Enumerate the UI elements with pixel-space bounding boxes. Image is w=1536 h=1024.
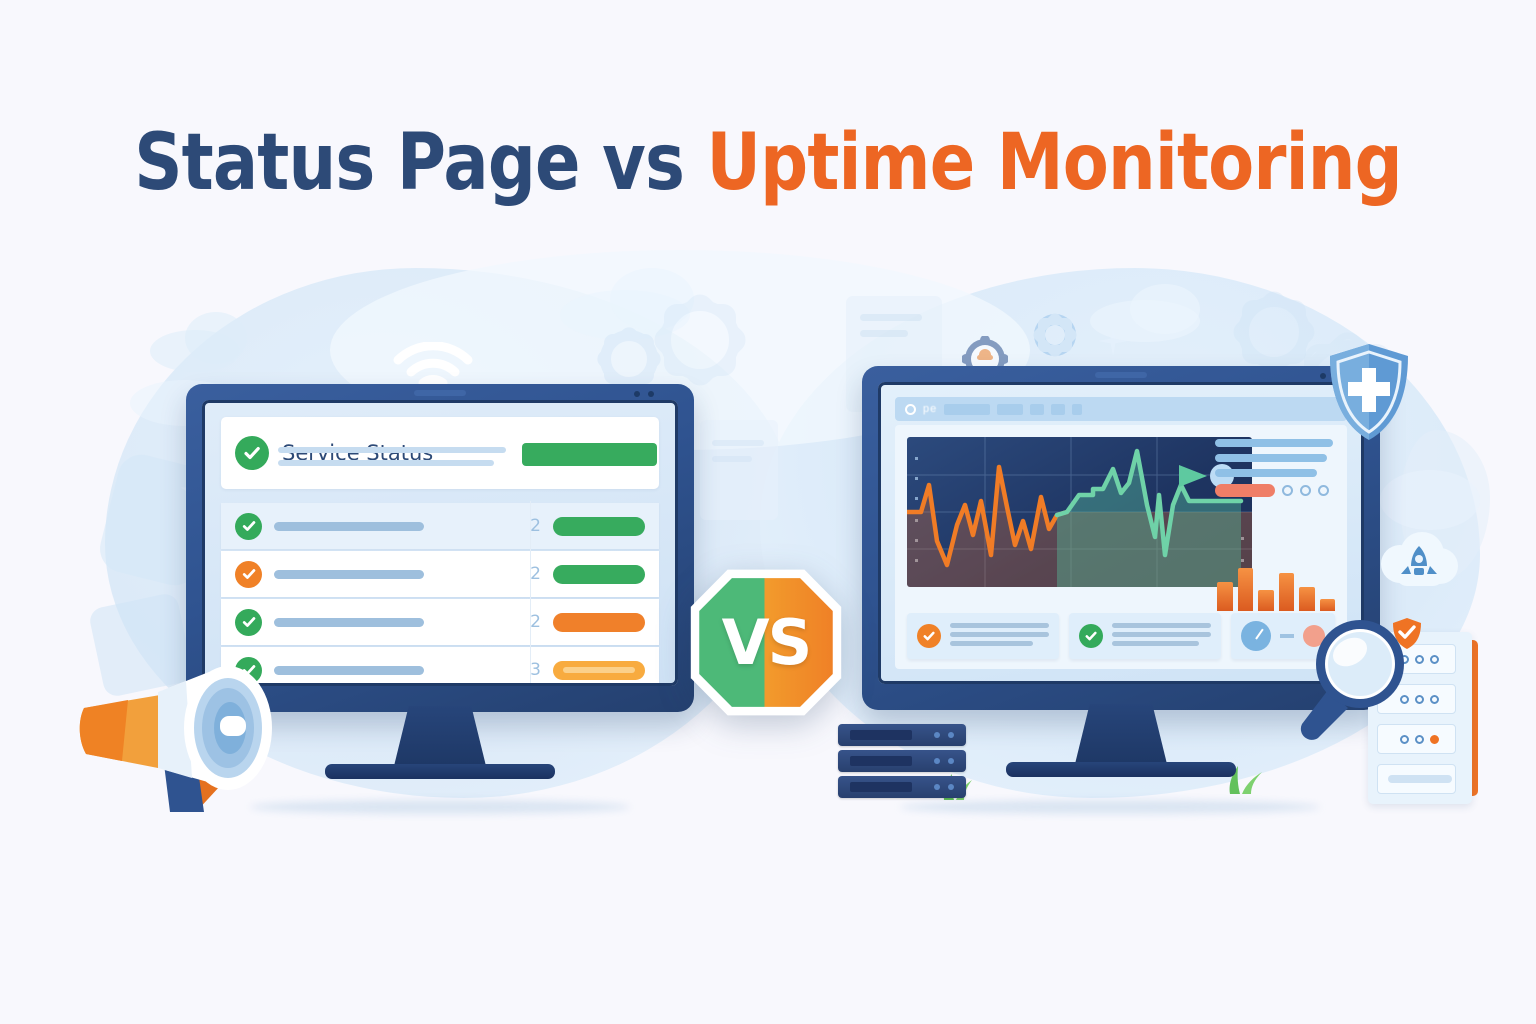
page-title-part-orange: Uptime Monitoring <box>707 118 1402 208</box>
decorative-cloud <box>1130 284 1200 334</box>
check-circle-icon <box>235 609 262 636</box>
server-unit <box>838 776 966 798</box>
row-value: 2 <box>530 516 541 536</box>
server-unit <box>838 750 966 772</box>
dashboard-status-cards <box>907 613 1335 659</box>
monitor-stand-base <box>1006 762 1236 777</box>
gear-icon <box>1034 314 1076 356</box>
page-title-part-navy: Status Page vs <box>134 118 706 208</box>
toolbar-label: pe <box>923 403 937 415</box>
uptime-chart <box>907 437 1252 587</box>
monitor-camera-icon <box>1095 372 1147 378</box>
server-stack-icon <box>838 724 966 804</box>
status-badge <box>1215 484 1275 497</box>
check-circle-icon <box>917 624 941 648</box>
dashboard-side-lines <box>1215 439 1335 497</box>
gauge-icon <box>1241 621 1271 651</box>
gear-icon <box>1238 296 1310 368</box>
monitor-stand-base <box>325 764 555 779</box>
check-circle-icon <box>1079 624 1103 648</box>
gear-icon <box>600 330 658 388</box>
circle-icon <box>905 404 916 415</box>
monitor-camera-icon <box>414 390 466 396</box>
vs-badge: VS <box>686 565 846 720</box>
column-divider <box>530 501 531 683</box>
decorative-document-line <box>860 314 922 321</box>
status-card[interactable] <box>1069 613 1221 659</box>
bar <box>1320 599 1336 611</box>
toolbar-segment <box>1072 404 1082 415</box>
dashboard-body <box>895 425 1347 669</box>
row-label-placeholder <box>274 666 424 675</box>
rack-slot <box>1377 764 1456 794</box>
play-triangle-icon <box>1179 465 1207 487</box>
check-circle-icon <box>235 513 262 540</box>
circle-icon <box>1282 485 1293 496</box>
bar <box>1258 590 1274 611</box>
gear-icon <box>660 300 740 380</box>
toolbar-segment <box>1030 404 1044 415</box>
circle-icon <box>1318 485 1329 496</box>
megaphone-icon <box>62 636 294 812</box>
row-value: 2 <box>530 612 541 632</box>
bar <box>1217 582 1233 611</box>
toolbar-segment <box>1051 404 1065 415</box>
row-label-placeholder <box>274 522 424 531</box>
shield-cross-icon <box>1326 342 1412 442</box>
status-badge <box>553 661 645 680</box>
rocket-cloud-icon <box>1378 530 1460 596</box>
bar <box>1238 568 1254 611</box>
toolbar-segment <box>944 404 990 415</box>
placeholder-line <box>1215 454 1327 462</box>
status-badge <box>553 565 645 584</box>
decorative-document-line <box>860 330 908 337</box>
table-row[interactable]: 2 <box>221 503 659 549</box>
placeholder-line <box>1215 439 1333 447</box>
dashboard-toolbar[interactable]: pe <box>895 397 1347 421</box>
monitor-indicator-lights <box>634 391 654 397</box>
circle-icon <box>1300 485 1311 496</box>
status-badge <box>553 517 645 536</box>
check-circle-icon <box>235 561 262 588</box>
magnifying-glass-icon <box>1290 612 1410 742</box>
card-placeholder-lines <box>1112 623 1211 650</box>
card-placeholder-lines <box>950 623 1049 650</box>
response-bar-chart <box>1217 549 1335 611</box>
bar <box>1279 573 1295 611</box>
ground-shadow <box>250 800 630 814</box>
row-label-placeholder <box>274 618 424 627</box>
header-placeholder-lines <box>278 447 506 466</box>
vs-badge-label: VS <box>686 565 846 720</box>
decorative-document-line <box>712 456 752 462</box>
illustration-canvas: Status Page vs Uptime Monitoring <box>0 0 1536 1024</box>
row-label-placeholder <box>274 570 424 579</box>
header-action-button[interactable] <box>522 443 657 466</box>
table-row[interactable]: 2 <box>221 551 659 597</box>
status-badge <box>553 613 645 632</box>
server-unit <box>838 724 966 746</box>
placeholder-line <box>1215 469 1317 477</box>
row-value: 3 <box>530 660 541 680</box>
chart-svg <box>907 437 1252 587</box>
bar <box>1299 587 1315 611</box>
row-value: 2 <box>530 564 541 584</box>
monitor-stand-neck <box>1075 704 1167 764</box>
decorative-document-icon <box>700 420 778 520</box>
monitor-stand-neck <box>394 706 486 766</box>
decorative-document-line <box>712 440 764 446</box>
uptime-dashboard-screen: pe <box>881 385 1361 681</box>
page-title: Status Page vs Uptime Monitoring <box>108 118 1429 208</box>
decorative-cloud <box>185 312 247 364</box>
toolbar-segment <box>997 404 1023 415</box>
check-circle-icon <box>235 436 269 470</box>
decorative-cloud <box>1380 470 1480 530</box>
status-card[interactable] <box>907 613 1059 659</box>
